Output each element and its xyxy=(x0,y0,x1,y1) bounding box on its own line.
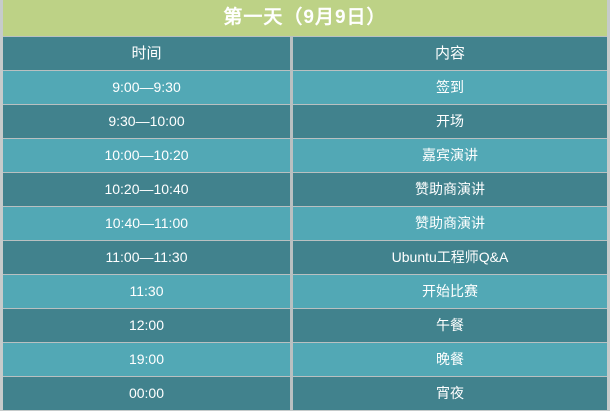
cell-time: 11:30 xyxy=(3,275,290,308)
cell-content: 开始比赛 xyxy=(293,275,607,308)
column-header-content: 内容 xyxy=(293,37,607,70)
cell-time: 11:00—11:30 xyxy=(3,241,290,274)
cell-time: 10:20—10:40 xyxy=(3,173,290,206)
cell-time: 10:40—11:00 xyxy=(3,207,290,240)
cell-content: 宵夜 xyxy=(293,377,607,410)
cell-content: Ubuntu工程师Q&A xyxy=(293,241,607,274)
cell-content: 开场 xyxy=(293,105,607,138)
table-row: 12:00午餐 xyxy=(3,309,607,342)
schedule-table: 第一天（9月9日） 时间 内容 9:00—9:30签到9:30—10:00开场1… xyxy=(3,0,607,410)
table-row: 11:30开始比赛 xyxy=(3,275,607,308)
cell-content: 签到 xyxy=(293,71,607,104)
cell-content: 嘉宾演讲 xyxy=(293,139,607,172)
column-header-time: 时间 xyxy=(3,37,290,70)
cell-content: 午餐 xyxy=(293,309,607,342)
cell-content: 赞助商演讲 xyxy=(293,173,607,206)
table-row: 10:00—10:20嘉宾演讲 xyxy=(3,139,607,172)
cell-time: 9:00—9:30 xyxy=(3,71,290,104)
table-row: 19:00晚餐 xyxy=(3,343,607,376)
cell-time: 10:00—10:20 xyxy=(3,139,290,172)
table-row: 9:00—9:30签到 xyxy=(3,71,607,104)
cell-time: 19:00 xyxy=(3,343,290,376)
table-row: 9:30—10:00开场 xyxy=(3,105,607,138)
table-row: 00:00宵夜 xyxy=(3,377,607,410)
cell-content: 赞助商演讲 xyxy=(293,207,607,240)
table-row: 10:20—10:40赞助商演讲 xyxy=(3,173,607,206)
cell-content: 晚餐 xyxy=(293,343,607,376)
table-title: 第一天（9月9日） xyxy=(3,0,607,36)
table-header-row: 时间 内容 xyxy=(3,37,607,70)
cell-time: 12:00 xyxy=(3,309,290,342)
cell-time: 00:00 xyxy=(3,377,290,410)
table-body: 9:00—9:30签到9:30—10:00开场10:00—10:20嘉宾演讲10… xyxy=(3,71,607,410)
table-row: 10:40—11:00赞助商演讲 xyxy=(3,207,607,240)
cell-time: 9:30—10:00 xyxy=(3,105,290,138)
table-row: 11:00—11:30Ubuntu工程师Q&A xyxy=(3,241,607,274)
